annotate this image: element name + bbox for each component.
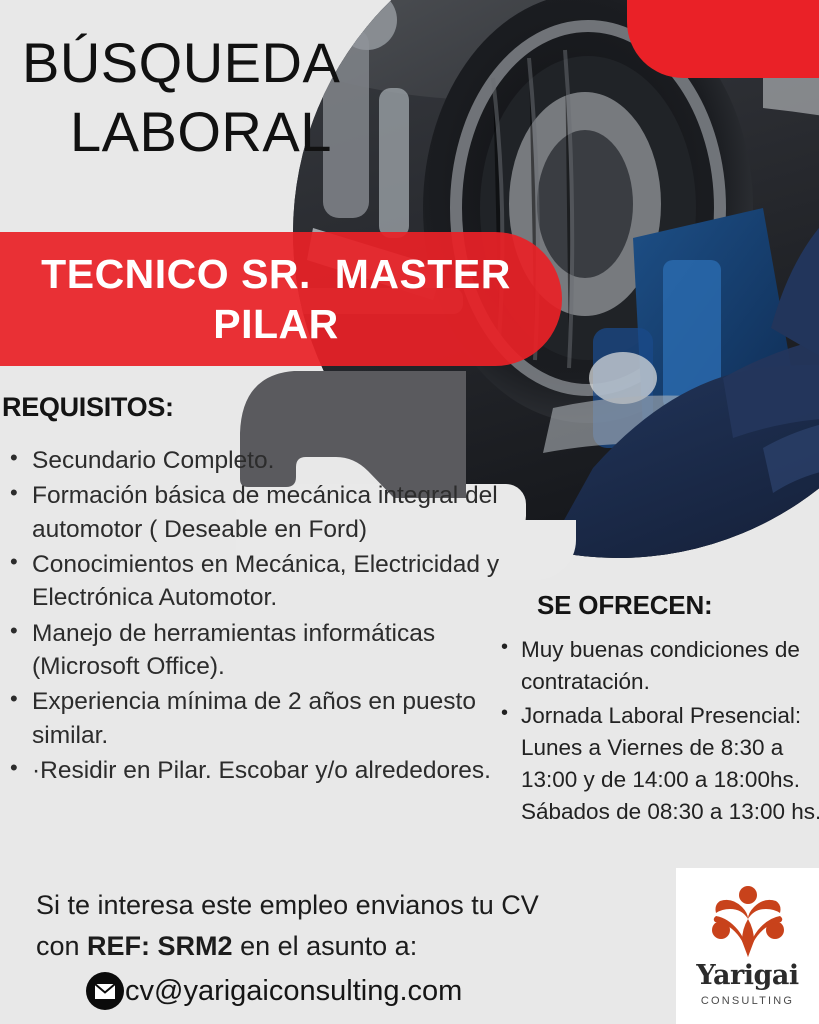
email-row[interactable]: cv@yarigaiconsulting.com — [86, 972, 462, 1010]
requirements-heading: REQUISITOS: — [2, 392, 174, 423]
list-item: Manejo de herramientas informáticas (Mic… — [32, 617, 518, 684]
job-title-line-1: TECNICO SR. MASTER — [41, 249, 511, 299]
list-item: Muy buenas condiciones de contratación. — [521, 634, 819, 698]
contact-line-1: Si te interesa este empleo envianos tu C… — [36, 885, 656, 926]
contact-instructions: Si te interesa este empleo envianos tu C… — [36, 885, 656, 967]
email-address[interactable]: cv@yarigaiconsulting.com — [125, 975, 462, 1008]
reference-code: REF: SRM2 — [87, 931, 233, 961]
requirements-list: Secundario Completo. Formación básica de… — [4, 444, 518, 789]
headline-line-2: LABORAL — [22, 97, 340, 166]
list-item: Experiencia mínima de 2 años en puesto s… — [32, 685, 518, 752]
offers-list: Muy buenas condiciones de contratación. … — [495, 634, 819, 830]
list-item: Conocimientos en Mecánica, Electricidad … — [32, 548, 518, 615]
page-title: BÚSQUEDA LABORAL — [22, 28, 340, 167]
job-title-banner: TECNICO SR. MASTER PILAR — [0, 232, 562, 366]
contact-line-2: con REF: SRM2 en el asunto a: — [36, 926, 656, 967]
contact-line-2-prefix: con — [36, 931, 87, 961]
logo-tagline: CONSULTING — [701, 995, 794, 1007]
logo-wordmark: Yarigai — [696, 960, 798, 991]
list-item: ·Residir en Pilar. Escobar y/o alrededor… — [32, 754, 518, 787]
three-people-icon — [702, 885, 794, 959]
company-logo: Yarigai CONSULTING — [676, 868, 819, 1024]
offers-heading: SE OFRECEN: — [537, 590, 712, 621]
list-item: Formación básica de mecánica integral de… — [32, 479, 518, 546]
headline-line-1: BÚSQUEDA — [22, 31, 340, 94]
contact-line-2-suffix: en el asunto a: — [233, 931, 418, 961]
envelope-icon — [86, 972, 124, 1010]
top-right-red-accent — [627, 0, 819, 78]
job-posting-poster: BÚSQUEDA LABORAL TECNICO SR. MASTER PILA… — [0, 0, 819, 1024]
list-item: Secundario Completo. — [32, 444, 518, 477]
job-title-line-2: PILAR — [213, 299, 339, 349]
list-item: Jornada Laboral Presencial: Lunes a Vier… — [521, 700, 819, 828]
